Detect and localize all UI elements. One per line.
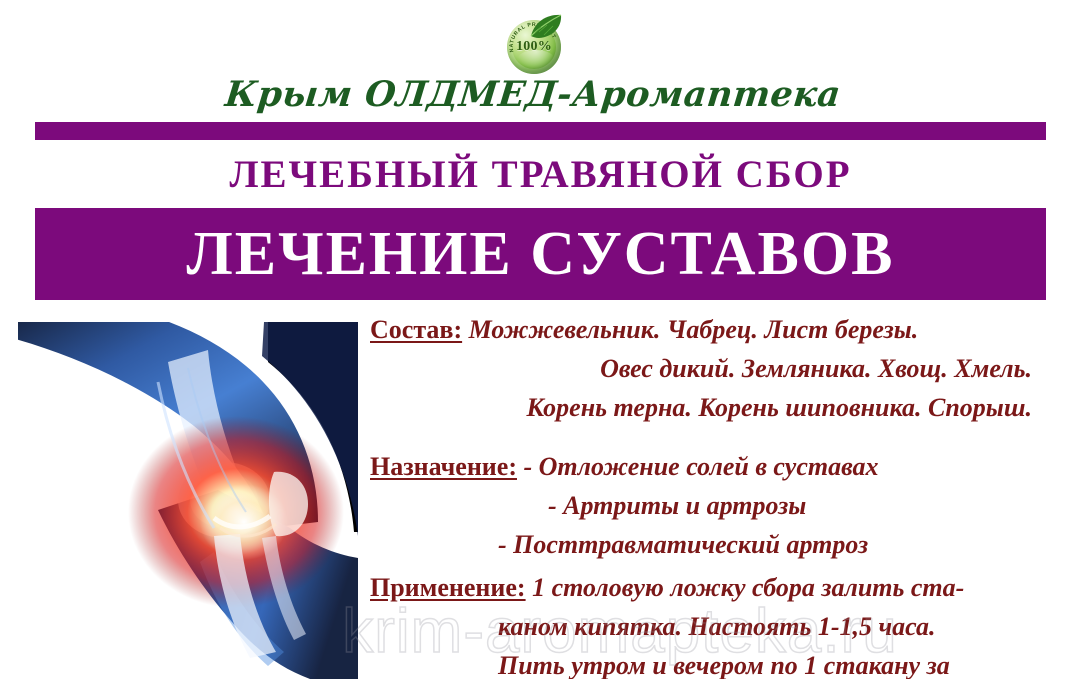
composition-line-3: Корень терна. Корень шиповника. Спорыш.	[370, 388, 1060, 427]
indications-label: Назначение:	[370, 452, 517, 481]
composition-section: Состав: Можжевельник. Чабрец. Лист берез…	[370, 310, 1060, 427]
composition-text-1: Можжевельник. Чабрец. Лист березы.	[469, 315, 919, 344]
leaf-icon	[529, 14, 563, 40]
composition-label: Состав:	[370, 315, 462, 344]
composition-line-1: Состав: Можжевельник. Чабрец. Лист берез…	[370, 310, 1060, 349]
title-band: ЛЕЧЕНИЕ СУСТАВОВ	[35, 208, 1046, 300]
indication-item-3: - Посттравматический артроз	[370, 525, 1060, 564]
brand-name: Крым ОЛДМЕД-Аромаптека	[0, 74, 1066, 115]
subtitle-text: ЛЕЧЕБНЫЙ ТРАВЯНОЙ СБОР	[229, 152, 851, 197]
usage-line-1: Применение: 1 столовую ложку сбора залит…	[370, 568, 1060, 607]
usage-line-2: каном кипятка. Настоять 1-1,5 часа.	[370, 607, 1060, 646]
indications-line-1: Назначение: - Отложение солей в суставах	[370, 447, 1060, 486]
knee-joint-image	[18, 322, 358, 679]
composition-line-2: Овес дикий. Земляника. Хвощ. Хмель.	[370, 349, 1060, 388]
usage-line-3: Пить утром и вечером по 1 стакану за	[370, 646, 1060, 679]
top-accent-bar	[35, 122, 1046, 140]
poster: NATURAL PRODUCT 100% Крым ОЛДМЕД-Аромапт…	[0, 0, 1066, 679]
title-text: ЛЕЧЕНИЕ СУСТАВОВ	[187, 219, 895, 290]
spacer-1	[370, 427, 1060, 447]
indications-section: Назначение: - Отложение солей в суставах…	[370, 447, 1060, 564]
natural-product-badge: NATURAL PRODUCT 100%	[503, 14, 565, 76]
logo-block: NATURAL PRODUCT 100% Крым ОЛДМЕД-Аромапт…	[0, 0, 1066, 120]
info-column: Состав: Можжевельник. Чабрец. Лист берез…	[370, 310, 1060, 679]
usage-text-1: 1 столовую ложку сбора залить ста-	[532, 573, 964, 602]
subtitle-band: ЛЕЧЕБНЫЙ ТРАВЯНОЙ СБОР	[35, 144, 1046, 204]
usage-label: Применение:	[370, 573, 526, 602]
indication-item-2: - Артриты и артрозы	[370, 486, 1060, 525]
indication-item-1: - Отложение солей в суставах	[523, 452, 878, 481]
usage-section: Применение: 1 столовую ложку сбора залит…	[370, 568, 1060, 679]
